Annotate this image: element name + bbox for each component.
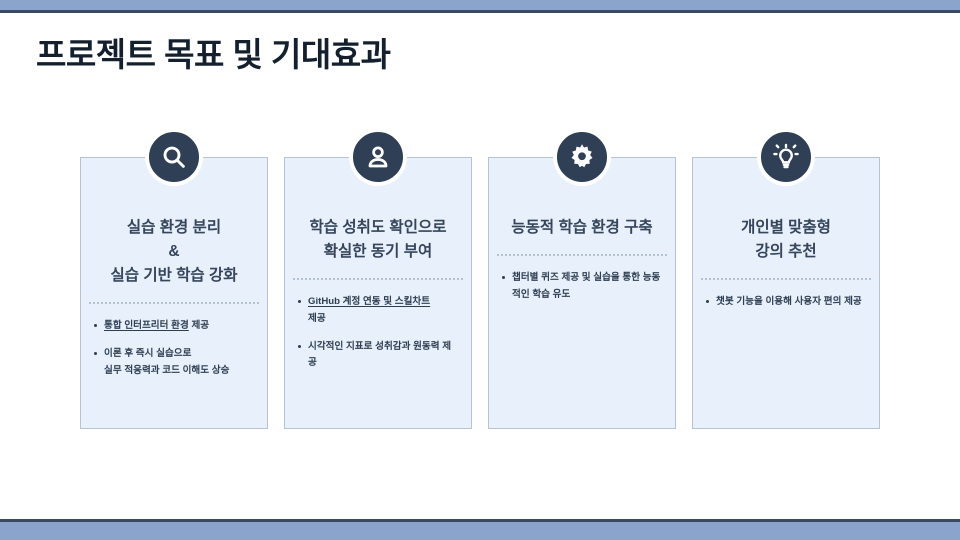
card-title: 능동적 학습 환경 구축 (511, 216, 652, 240)
feature-card: 실습 환경 분리 & 실습 기반 학습 강화통합 인터프리터 환경 제공이론 후… (80, 157, 268, 429)
bullet-text: 제공 (189, 320, 209, 331)
card-divider (89, 302, 259, 304)
bullet-text: 챕터별 퀴즈 제공 및 실습을 통한 능동적인 학습 유도 (512, 272, 660, 300)
feature-card: 능동적 학습 환경 구축챕터별 퀴즈 제공 및 실습을 통한 능동적인 학습 유… (488, 157, 676, 429)
top-accent-rule (0, 10, 960, 13)
bottom-accent-band (0, 522, 960, 540)
bullet-text: 이론 후 즉시 실습으로 실무 적응력과 코드 이해도 상승 (104, 348, 229, 376)
card-bullet-item: 통합 인터프리터 환경 제공 (93, 318, 255, 335)
card-bullet-item: GitHub 계정 연동 및 스킬차트 제공 (297, 294, 459, 328)
card-bullet-list: 통합 인터프리터 환경 제공이론 후 즉시 실습으로 실무 적응력과 코드 이해… (93, 318, 255, 390)
bullet-text: 제공 (308, 313, 326, 324)
card-bullet-list: 챕터별 퀴즈 제공 및 실습을 통한 능동적인 학습 유도 (501, 270, 663, 315)
lightbulb-icon (757, 128, 815, 186)
bullet-underlined-text: 통합 인터프리터 환경 (104, 320, 189, 331)
card-bullet-item: 시각적인 지표로 성취감과 원동력 제공 (297, 339, 459, 373)
card-title: 실습 환경 분리 & 실습 기반 학습 강화 (111, 216, 238, 288)
card-bullet-item: 이론 후 즉시 실습으로 실무 적응력과 코드 이해도 상승 (93, 346, 255, 380)
card-title: 학습 성취도 확인으로 확실한 동기 부여 (310, 216, 447, 264)
page-title: 프로젝트 목표 및 기대효과 (36, 28, 390, 76)
feature-card: 개인별 맞춤형 강의 추천챗봇 기능을 이용해 사용자 편의 제공 (692, 157, 880, 429)
card-title: 개인별 맞춤형 강의 추천 (741, 216, 831, 264)
card-bullet-item: 챗봇 기능을 이용해 사용자 편의 제공 (705, 294, 867, 311)
card-bullet-list: GitHub 계정 연동 및 스킬차트 제공시각적인 지표로 성취감과 원동력 … (297, 294, 459, 383)
feature-card: 학습 성취도 확인으로 확실한 동기 부여GitHub 계정 연동 및 스킬차트… (284, 157, 472, 429)
card-divider (701, 278, 871, 280)
card-divider (293, 278, 463, 280)
bullet-underlined-text: GitHub 계정 연동 및 스킬차트 (308, 296, 430, 307)
card-row: 실습 환경 분리 & 실습 기반 학습 강화통합 인터프리터 환경 제공이론 후… (80, 157, 880, 429)
person-icon (349, 128, 407, 186)
card-bullet-list: 챗봇 기능을 이용해 사용자 편의 제공 (705, 294, 867, 322)
gear-icon (553, 128, 611, 186)
bullet-text: 시각적인 지표로 성취감과 원동력 제공 (308, 341, 451, 369)
bullet-text: 챗봇 기능을 이용해 사용자 편의 제공 (716, 296, 862, 307)
top-accent-band (0, 0, 960, 10)
card-bullet-item: 챕터별 퀴즈 제공 및 실습을 통한 능동적인 학습 유도 (501, 270, 663, 304)
card-divider (497, 254, 667, 256)
magnifier-icon (145, 128, 203, 186)
slide-canvas: 프로젝트 목표 및 기대효과 실습 환경 분리 & 실습 기반 학습 강화통합 … (0, 0, 960, 540)
